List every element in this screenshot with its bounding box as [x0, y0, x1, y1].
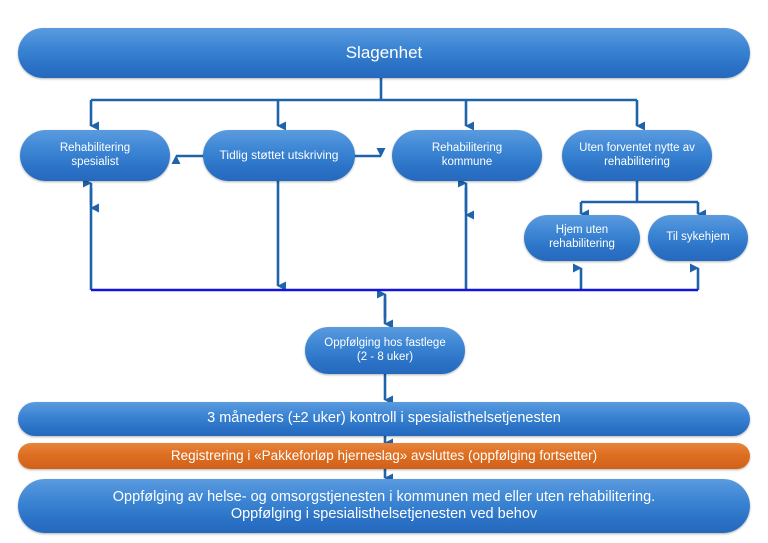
node-uten-forventet-nytte-text: Uten forventet nytte av rehabilitering	[570, 142, 704, 169]
node-til-sykehjem[interactable]: Til sykehjem	[648, 215, 748, 261]
node-uten-forventet-nytte-line2: rehabilitering	[570, 156, 704, 170]
node-oppfolging-kommune-line2: Oppfølging i spesialisthelsetjenesten ve…	[26, 506, 742, 523]
node-rehabilitering-kommune-text: Rehabilitering kommune	[400, 142, 534, 169]
node-hjem-uten-rehabilitering[interactable]: Hjem uten rehabilitering	[524, 215, 640, 261]
node-oppfolging-kommune-line1: Oppfølging av helse- og omsorgstjenesten…	[26, 489, 742, 506]
node-rehabilitering-kommune[interactable]: Rehabilitering kommune	[392, 130, 542, 181]
node-rehabilitering-kommune-line1: Rehabilitering	[400, 142, 534, 156]
node-registrering-avsluttes-label: Registrering i «Pakkeforløp hjerneslag» …	[26, 448, 742, 464]
node-uten-forventet-nytte-line1: Uten forventet nytte av	[570, 142, 704, 156]
node-rehabilitering-spesialist-line2: spesialist	[28, 156, 162, 170]
flowchart-diagram: Slagenhet Rehabilitering spesialist Tidl…	[0, 0, 768, 543]
node-rehabilitering-spesialist-line1: Rehabilitering	[28, 142, 162, 156]
node-oppfolging-fastlege-line2: (2 - 8 uker)	[313, 351, 457, 365]
node-rehabilitering-kommune-line2: kommune	[400, 156, 534, 170]
node-uten-forventet-nytte[interactable]: Uten forventet nytte av rehabilitering	[562, 130, 712, 181]
node-hjem-uten-rehabilitering-text: Hjem uten rehabilitering	[532, 224, 632, 251]
node-tidlig-stottet-utskriving-label: Tidlig støttet utskriving	[211, 148, 347, 162]
node-slagenhet-label: Slagenhet	[26, 43, 742, 63]
node-oppfolging-kommune[interactable]: Oppfølging av helse- og omsorgstjenesten…	[18, 479, 750, 533]
node-til-sykehjem-label: Til sykehjem	[656, 231, 740, 245]
node-tidlig-stottet-utskriving[interactable]: Tidlig støttet utskriving	[203, 130, 355, 181]
node-rehabilitering-spesialist-text: Rehabilitering spesialist	[28, 142, 162, 169]
node-3-maneders-kontroll[interactable]: 3 måneders (±2 uker) kontroll i spesiali…	[18, 402, 750, 436]
node-rehabilitering-spesialist[interactable]: Rehabilitering spesialist	[20, 130, 170, 181]
node-hjem-uten-rehabilitering-line1: Hjem uten	[532, 224, 632, 238]
node-slagenhet[interactable]: Slagenhet	[18, 28, 750, 78]
node-3-maneders-kontroll-label: 3 måneders (±2 uker) kontroll i spesiali…	[26, 410, 742, 427]
node-oppfolging-fastlege-line1: Oppfølging hos fastlege	[313, 337, 457, 351]
node-oppfolging-fastlege[interactable]: Oppfølging hos fastlege (2 - 8 uker)	[305, 327, 465, 374]
node-hjem-uten-rehabilitering-line2: rehabilitering	[532, 238, 632, 252]
node-oppfolging-fastlege-text: Oppfølging hos fastlege (2 - 8 uker)	[313, 337, 457, 364]
node-oppfolging-kommune-text: Oppfølging av helse- og omsorgstjenesten…	[26, 489, 742, 523]
node-registrering-avsluttes[interactable]: Registrering i «Pakkeforløp hjerneslag» …	[18, 443, 750, 469]
